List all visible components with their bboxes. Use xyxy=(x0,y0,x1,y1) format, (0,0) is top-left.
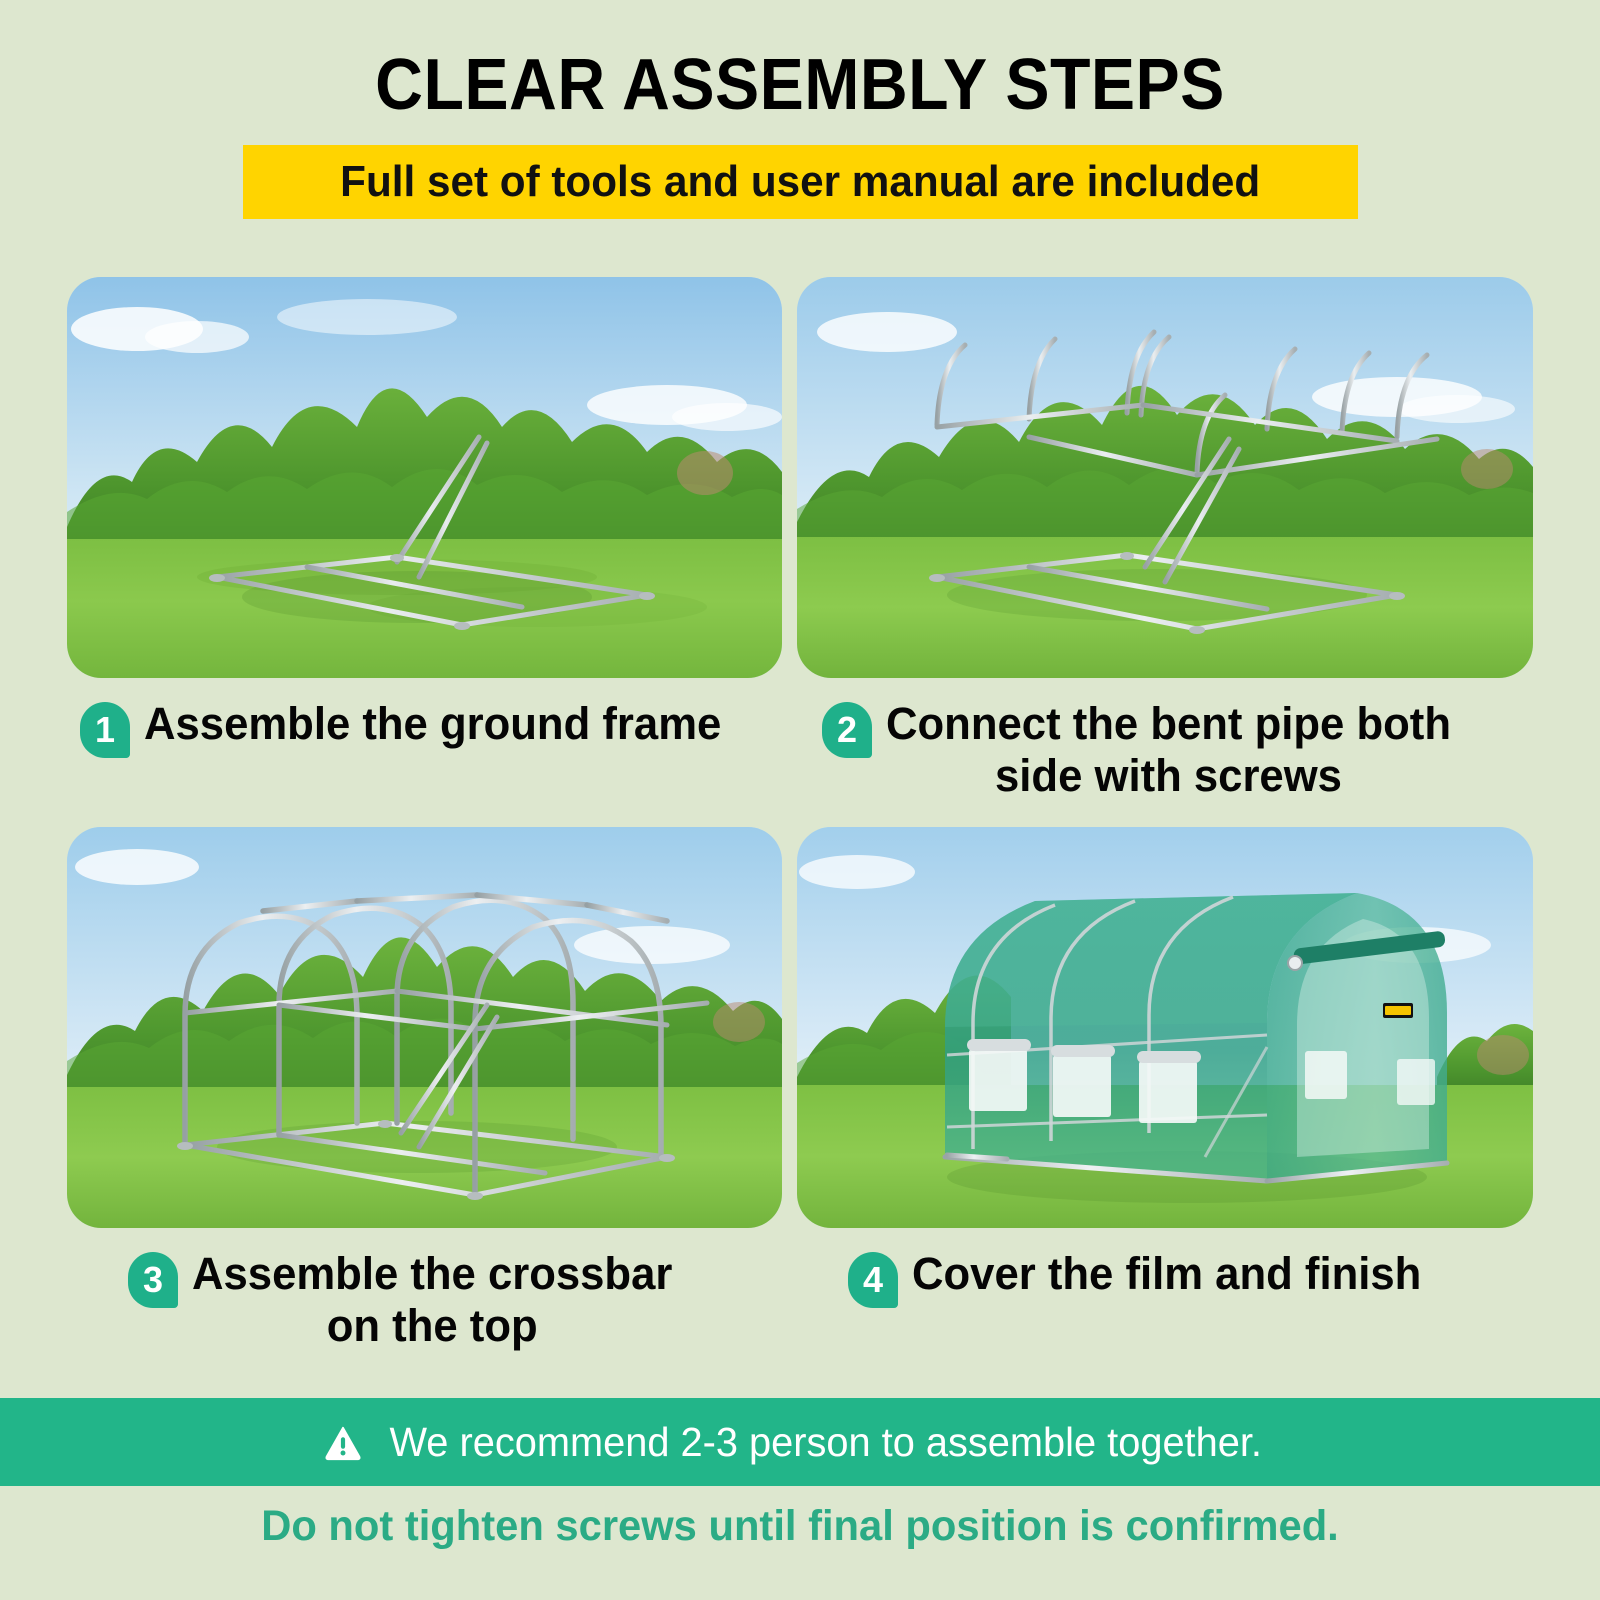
ground-frame-illustration xyxy=(67,277,782,678)
step-label-1: Assemble the ground frame xyxy=(144,698,721,750)
step-image-4 xyxy=(797,827,1533,1228)
step-label-4: Cover the film and finish xyxy=(912,1248,1421,1300)
step-image-3 xyxy=(67,827,782,1228)
recommendation-band: We recommend 2-3 person to assemble toge… xyxy=(0,1398,1600,1486)
step-image-2 xyxy=(797,277,1533,678)
step-caption-4: 4 Cover the film and finish xyxy=(848,1248,1548,1308)
footer-note-text: Do not tighten screws until final positi… xyxy=(24,1500,1576,1552)
crossbar-illustration xyxy=(67,827,782,1228)
warning-triangle-icon xyxy=(324,1424,362,1462)
step-label-3-line-1: Assemble the crossbar xyxy=(192,1248,672,1299)
page-title: CLEAR ASSEMBLY STEPS xyxy=(64,42,1536,128)
step-caption-2: 2 Connect the bent pipe both side with s… xyxy=(822,698,1562,802)
step-label-3: Assemble the crossbar on the top xyxy=(192,1248,672,1352)
step-number-badge-2: 2 xyxy=(822,702,872,758)
step-label-3-line-2: on the top xyxy=(192,1300,672,1352)
bent-pipe-illustration xyxy=(797,277,1533,678)
step-caption-1: 1 Assemble the ground frame xyxy=(80,698,780,758)
step-label-2: Connect the bent pipe both side with scr… xyxy=(886,698,1451,802)
step-image-1 xyxy=(67,277,782,678)
step-label-4-line-1: Cover the film and finish xyxy=(912,1248,1421,1299)
step-number-badge-1: 1 xyxy=(80,702,130,758)
finished-greenhouse-illustration xyxy=(797,827,1533,1228)
step-label-2-line-2: side with screws xyxy=(886,750,1451,802)
step-caption-3: 3 Assemble the crossbar on the top xyxy=(128,1248,788,1352)
subtitle-banner: Full set of tools and user manual are in… xyxy=(243,145,1358,219)
subtitle-text: Full set of tools and user manual are in… xyxy=(340,157,1260,207)
recommendation-text: We recommend 2-3 person to assemble toge… xyxy=(390,1418,1262,1466)
step-label-2-line-1: Connect the bent pipe both xyxy=(886,698,1451,749)
step-number-badge-3: 3 xyxy=(128,1252,178,1308)
step-label-1-line-1: Assemble the ground frame xyxy=(144,698,721,749)
step-number-badge-4: 4 xyxy=(848,1252,898,1308)
